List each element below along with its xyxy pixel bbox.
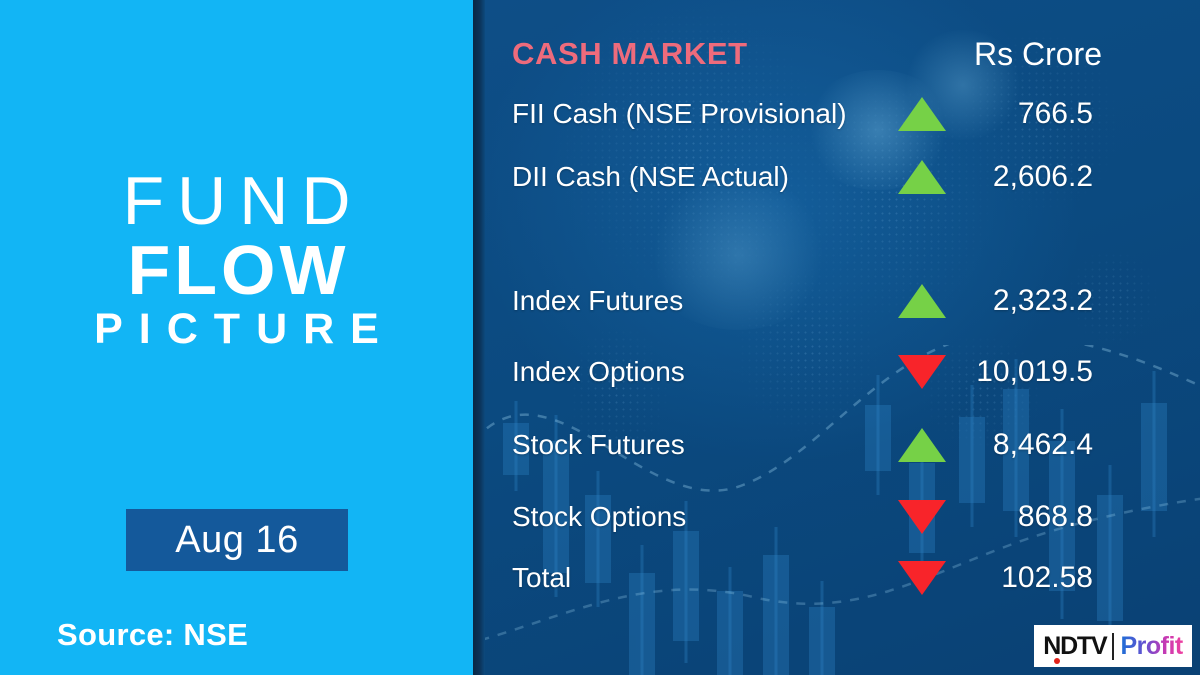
title-line-flow: FLOW bbox=[0, 235, 473, 306]
row-label: Stock Futures bbox=[512, 423, 685, 467]
table-row: Index Futures 2,323.2 bbox=[473, 279, 1200, 323]
row-label: Index Futures bbox=[512, 279, 683, 323]
row-value: 2,606.2 bbox=[993, 155, 1093, 199]
logo-separator bbox=[1112, 633, 1114, 660]
arrow-down-icon bbox=[898, 561, 946, 595]
arrow-down-icon bbox=[898, 355, 946, 389]
row-value: 102.58 bbox=[1001, 556, 1093, 600]
unit-header: Rs Crore bbox=[958, 36, 1118, 73]
fund-flow-infographic: FUND FLOW PICTURE Aug 16 Source: NSE bbox=[0, 0, 1200, 675]
row-label: DII Cash (NSE Actual) bbox=[512, 155, 789, 199]
table-row: Total 102.58 bbox=[473, 556, 1200, 600]
row-value: 8,462.4 bbox=[993, 423, 1093, 467]
table-row: Index Options 10,019.5 bbox=[473, 350, 1200, 394]
table-row: Stock Futures 8,462.4 bbox=[473, 423, 1200, 467]
source-label: Source: NSE bbox=[57, 617, 248, 653]
date-badge-label: Aug 16 bbox=[175, 519, 298, 562]
row-value: 766.5 bbox=[1018, 92, 1093, 136]
panel-divider bbox=[473, 0, 485, 675]
section-title: CASH MARKET bbox=[512, 36, 748, 72]
arrow-up-icon bbox=[898, 160, 946, 194]
page-title: FUND FLOW PICTURE bbox=[0, 168, 473, 353]
arrow-up-icon bbox=[898, 284, 946, 318]
left-title-panel: FUND FLOW PICTURE Aug 16 Source: NSE bbox=[0, 0, 473, 675]
row-value: 10,019.5 bbox=[976, 350, 1093, 394]
logo-ndtv-text: NDTV bbox=[1043, 632, 1106, 661]
row-value: 868.8 bbox=[1018, 495, 1093, 539]
row-label: Total bbox=[512, 556, 571, 600]
table-row: Stock Options 868.8 bbox=[473, 495, 1200, 539]
data-panel: CASH MARKET Rs Crore FII Cash (NSE Provi… bbox=[473, 0, 1200, 675]
ndtv-profit-logo: NDTV Profit bbox=[1034, 625, 1192, 667]
table-row: FII Cash (NSE Provisional) 766.5 bbox=[473, 92, 1200, 136]
row-label: Index Options bbox=[512, 350, 685, 394]
row-label: FII Cash (NSE Provisional) bbox=[512, 92, 847, 136]
arrow-up-icon bbox=[898, 97, 946, 131]
arrow-down-icon bbox=[898, 500, 946, 534]
logo-red-dot-icon bbox=[1054, 658, 1060, 664]
title-line-fund: FUND bbox=[0, 168, 473, 235]
row-value: 2,323.2 bbox=[993, 279, 1093, 323]
date-badge: Aug 16 bbox=[126, 509, 348, 571]
title-line-picture: PICTURE bbox=[0, 306, 473, 353]
row-label: Stock Options bbox=[512, 495, 686, 539]
arrow-up-icon bbox=[898, 428, 946, 462]
fund-flow-table: CASH MARKET Rs Crore FII Cash (NSE Provi… bbox=[473, 0, 1200, 675]
logo-profit-text: Profit bbox=[1120, 632, 1182, 661]
table-row: DII Cash (NSE Actual) 2,606.2 bbox=[473, 155, 1200, 199]
